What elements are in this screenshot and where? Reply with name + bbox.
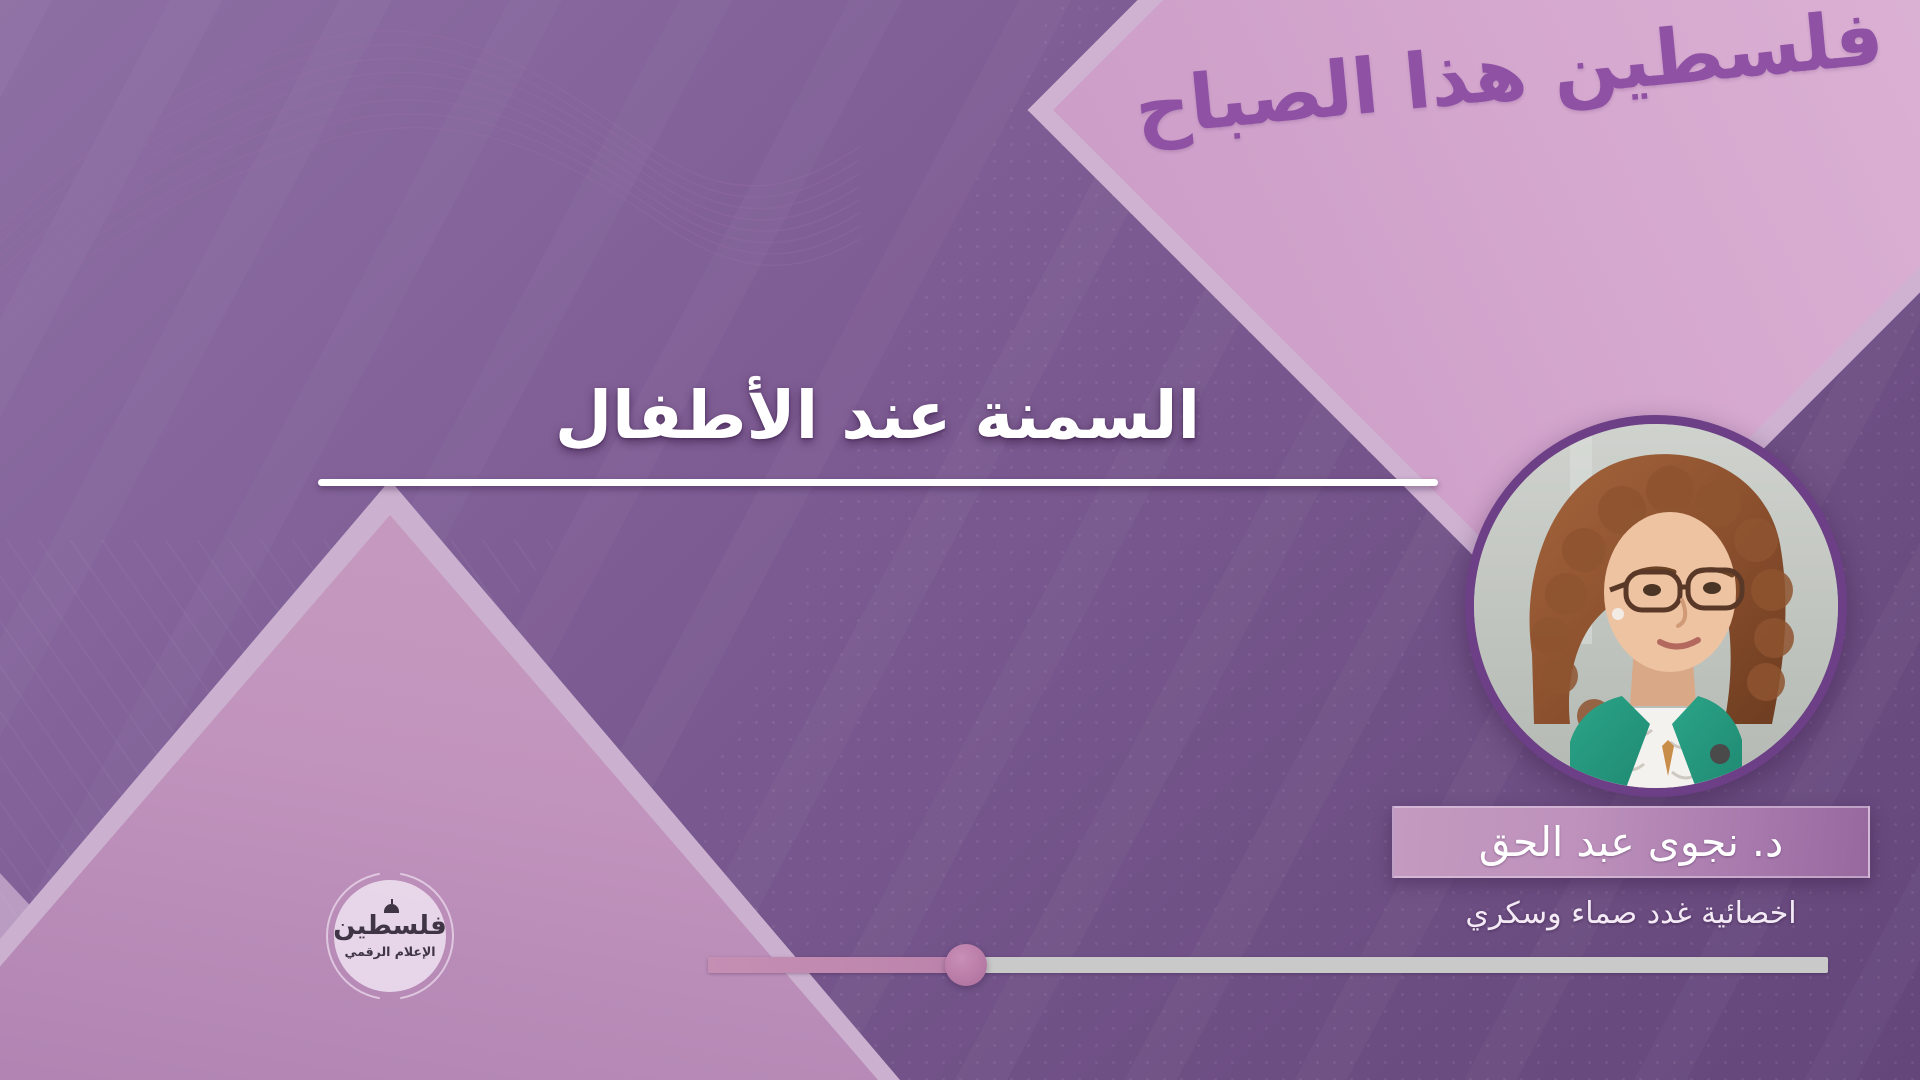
title-underline-rule: [318, 479, 1438, 486]
guest-portrait: [1465, 415, 1847, 797]
guest-portrait-image: [1474, 424, 1838, 788]
watermark-main-text: فلسطين: [333, 913, 446, 939]
channel-watermark: فلسطين الإعلام الرقمي: [326, 872, 454, 1000]
watermark-sub-text: الإعلام الرقمي: [344, 946, 435, 959]
progress-knob[interactable]: [945, 944, 987, 986]
segment-title-block: السمنة عند الأطفال: [315, 380, 1440, 486]
mosque-dome-icon: [384, 904, 399, 913]
video-progress-bar[interactable]: [708, 957, 1828, 973]
guest-role: اخصائية غدد صماء وسكري: [1392, 896, 1870, 931]
wave-lines-decoration: [0, 0, 860, 400]
guest-name: د. نجوى عبد الحق: [1479, 818, 1783, 866]
broadcast-lower-third-frame: فلسطين هذا الصباح السمنة عند الأطفال: [0, 0, 1920, 1080]
watermark-disc: فلسطين الإعلام الرقمي: [334, 880, 446, 992]
segment-title: السمنة عند الأطفال: [315, 380, 1440, 453]
progress-fill: [708, 957, 966, 973]
guest-name-banner: د. نجوى عبد الحق: [1392, 806, 1870, 878]
